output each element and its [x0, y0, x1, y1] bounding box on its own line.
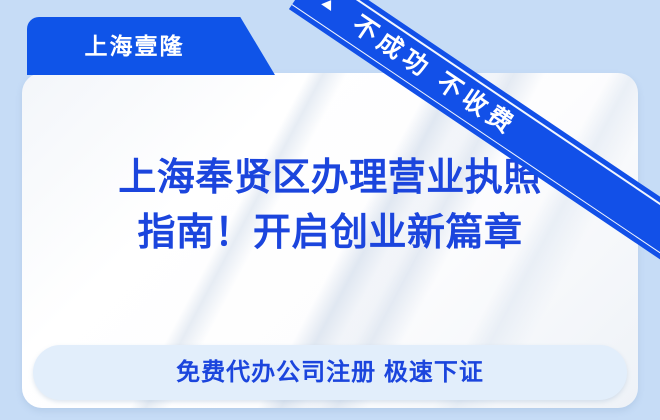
triangle-up-icon — [321, 0, 336, 11]
footer-pill-text: 免费代办公司注册 极速下证 — [176, 361, 484, 385]
brand-tab: 上海壹隆 — [27, 17, 275, 75]
brand-tab-label: 上海壹隆 — [27, 17, 242, 75]
poster-canvas: 上海壹隆 上海奉贤区办理营业执照 指南！开启创业新篇章 免费代办公司注册 极速下… — [0, 0, 660, 420]
footer-pill: 免费代办公司注册 极速下证 — [33, 345, 627, 400]
headline-line-2: 指南！开启创业新篇章 — [22, 206, 638, 261]
